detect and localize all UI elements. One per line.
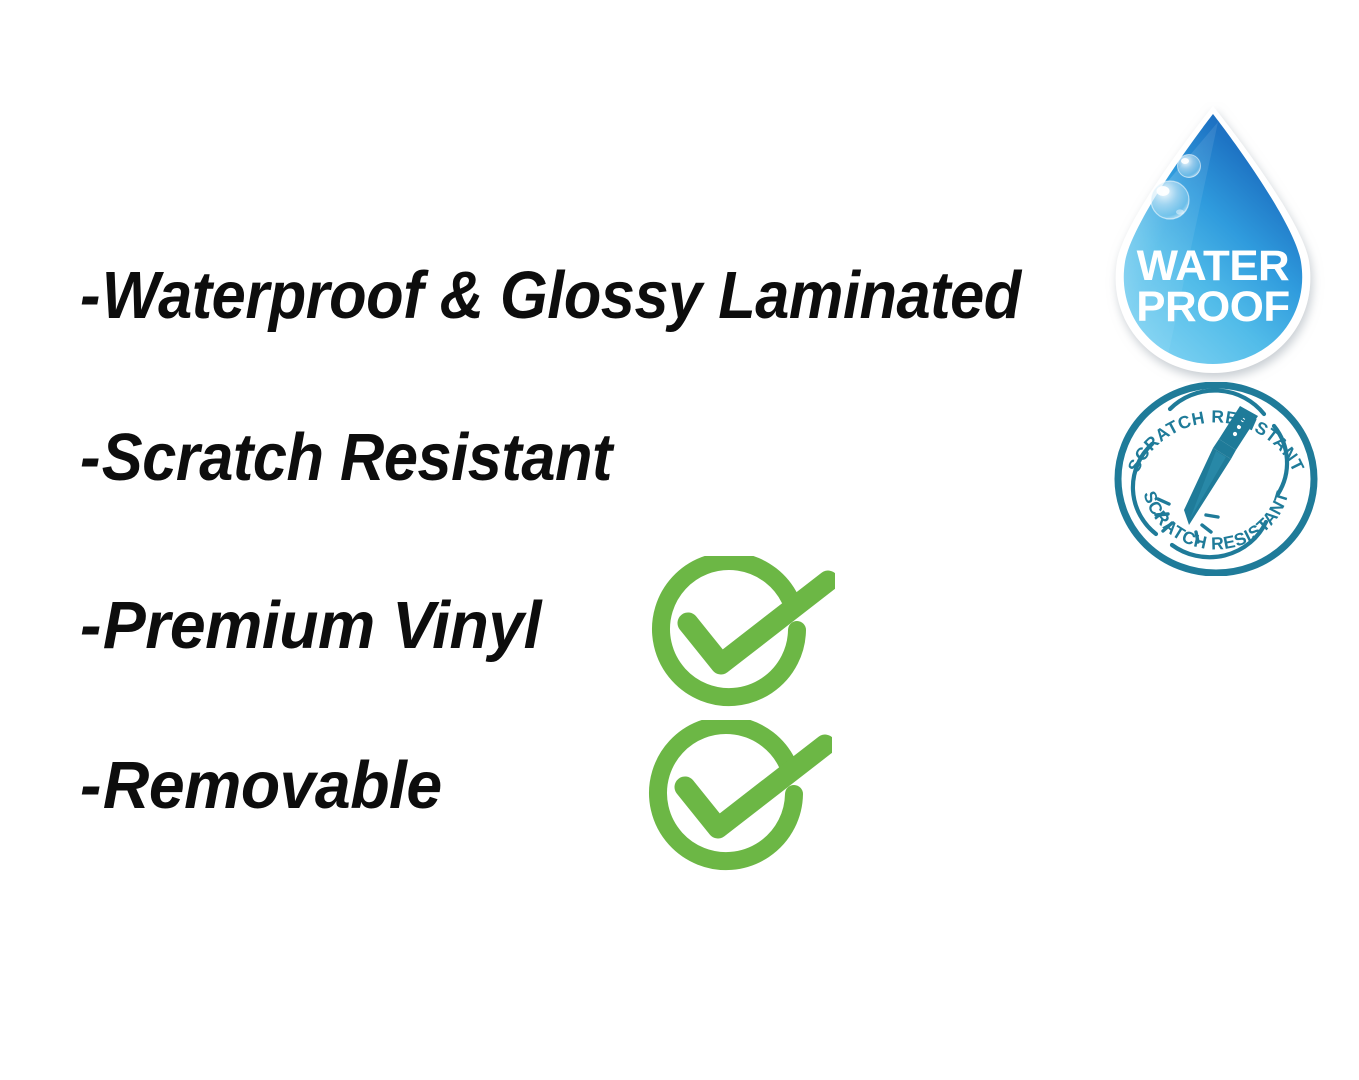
feature-bullet-dash: - <box>80 424 100 491</box>
feature-label: Premium Vinyl <box>103 588 541 663</box>
feature-item-scratch-resistant: -Scratch Resistant <box>80 424 612 491</box>
checkmark-premium-vinyl <box>640 556 835 716</box>
feature-label: Scratch Resistant <box>102 420 612 495</box>
waterproof-badge: WATER PROOF <box>1098 102 1328 382</box>
feature-item-removable: -Removable <box>80 752 442 819</box>
feature-label: Removable <box>103 748 442 823</box>
circle-check-icon <box>661 561 828 697</box>
feature-bullet-dash: - <box>80 752 101 819</box>
feature-item-waterproof: -Waterproof & Glossy Laminated <box>80 262 1021 329</box>
circle-check-icon <box>658 725 825 861</box>
feature-label: Waterproof & Glossy Laminated <box>102 258 1021 333</box>
feature-list-graphic: -Waterproof & Glossy Laminated -Scratch … <box>0 0 1359 1080</box>
check-tick <box>685 745 825 828</box>
check-tick <box>688 581 828 664</box>
waterproof-line2: PROOF <box>1136 283 1289 331</box>
feature-bullet-dash: - <box>80 592 101 659</box>
checkmark-removable <box>637 720 832 880</box>
feature-bullet-dash: - <box>80 262 100 329</box>
feature-item-premium-vinyl: -Premium Vinyl <box>80 592 541 659</box>
bubble-large-icon <box>1151 181 1189 219</box>
stamp-bottom-text: SCRATCH RESISTANT <box>1140 488 1293 553</box>
scratch-resistant-badge: SCRATCH RESISTANT SCRATCH RESISTANT <box>1112 382 1320 576</box>
bubble-small-icon <box>1178 155 1201 178</box>
